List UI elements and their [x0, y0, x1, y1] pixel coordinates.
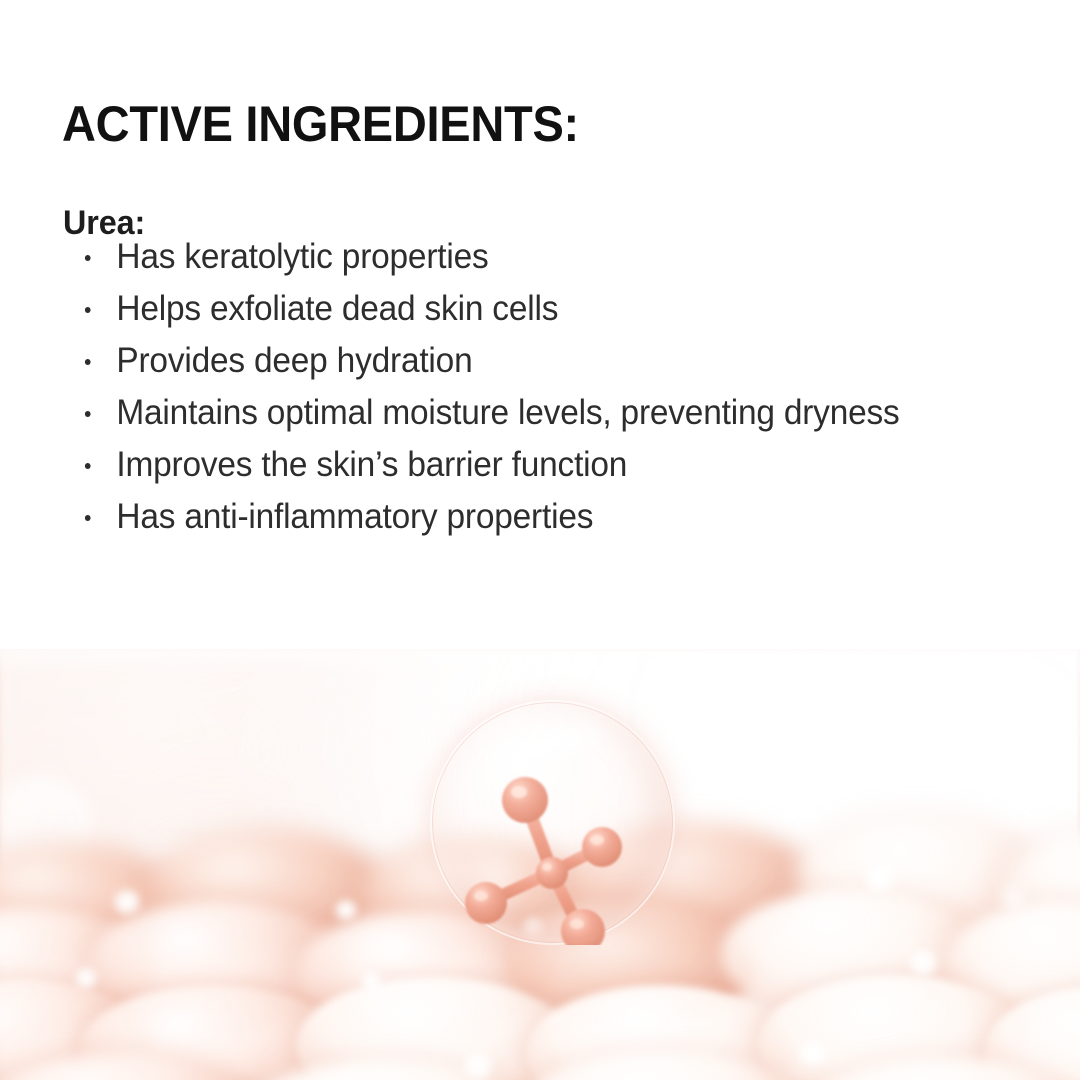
list-item: Has anti-inflammatory properties — [82, 491, 942, 543]
list-item: Provides deep hydration — [82, 335, 942, 387]
benefit-text: Has keratolytic properties — [116, 237, 488, 276]
benefit-text: Provides deep hydration — [116, 341, 472, 380]
bullet-dot-icon — [85, 283, 92, 335]
bullet-dot-icon — [85, 491, 92, 543]
list-item: Helps exfoliate dead skin cells — [82, 283, 942, 335]
hero-photo — [0, 649, 1080, 1080]
benefits-list: Has keratolytic properties Helps exfolia… — [82, 231, 982, 543]
tetrahedral-molecule-icon — [430, 700, 675, 945]
benefit-text: Improves the skin’s barrier function — [116, 445, 627, 484]
benefit-text: Has anti-inflammatory properties — [116, 497, 593, 536]
ingredient-info-card: ACTIVE INGREDIENTS: Urea: Has keratolyti… — [0, 0, 1080, 1080]
list-item: Has keratolytic properties — [82, 231, 942, 283]
list-item: Maintains optimal moisture levels, preve… — [82, 387, 942, 439]
benefit-text: Maintains optimal moisture levels, preve… — [116, 393, 899, 432]
benefit-text: Helps exfoliate dead skin cells — [116, 289, 558, 328]
page-title: ACTIVE INGREDIENTS: — [62, 98, 579, 151]
list-item: Improves the skin’s barrier function — [82, 439, 942, 491]
text-panel: ACTIVE INGREDIENTS: Urea: Has keratolyti… — [0, 0, 1080, 649]
photo-top-fade — [0, 649, 1080, 675]
bullet-dot-icon — [85, 439, 92, 491]
bullet-dot-icon — [85, 231, 92, 283]
bullet-dot-icon — [85, 335, 92, 387]
bullet-dot-icon — [85, 387, 92, 439]
